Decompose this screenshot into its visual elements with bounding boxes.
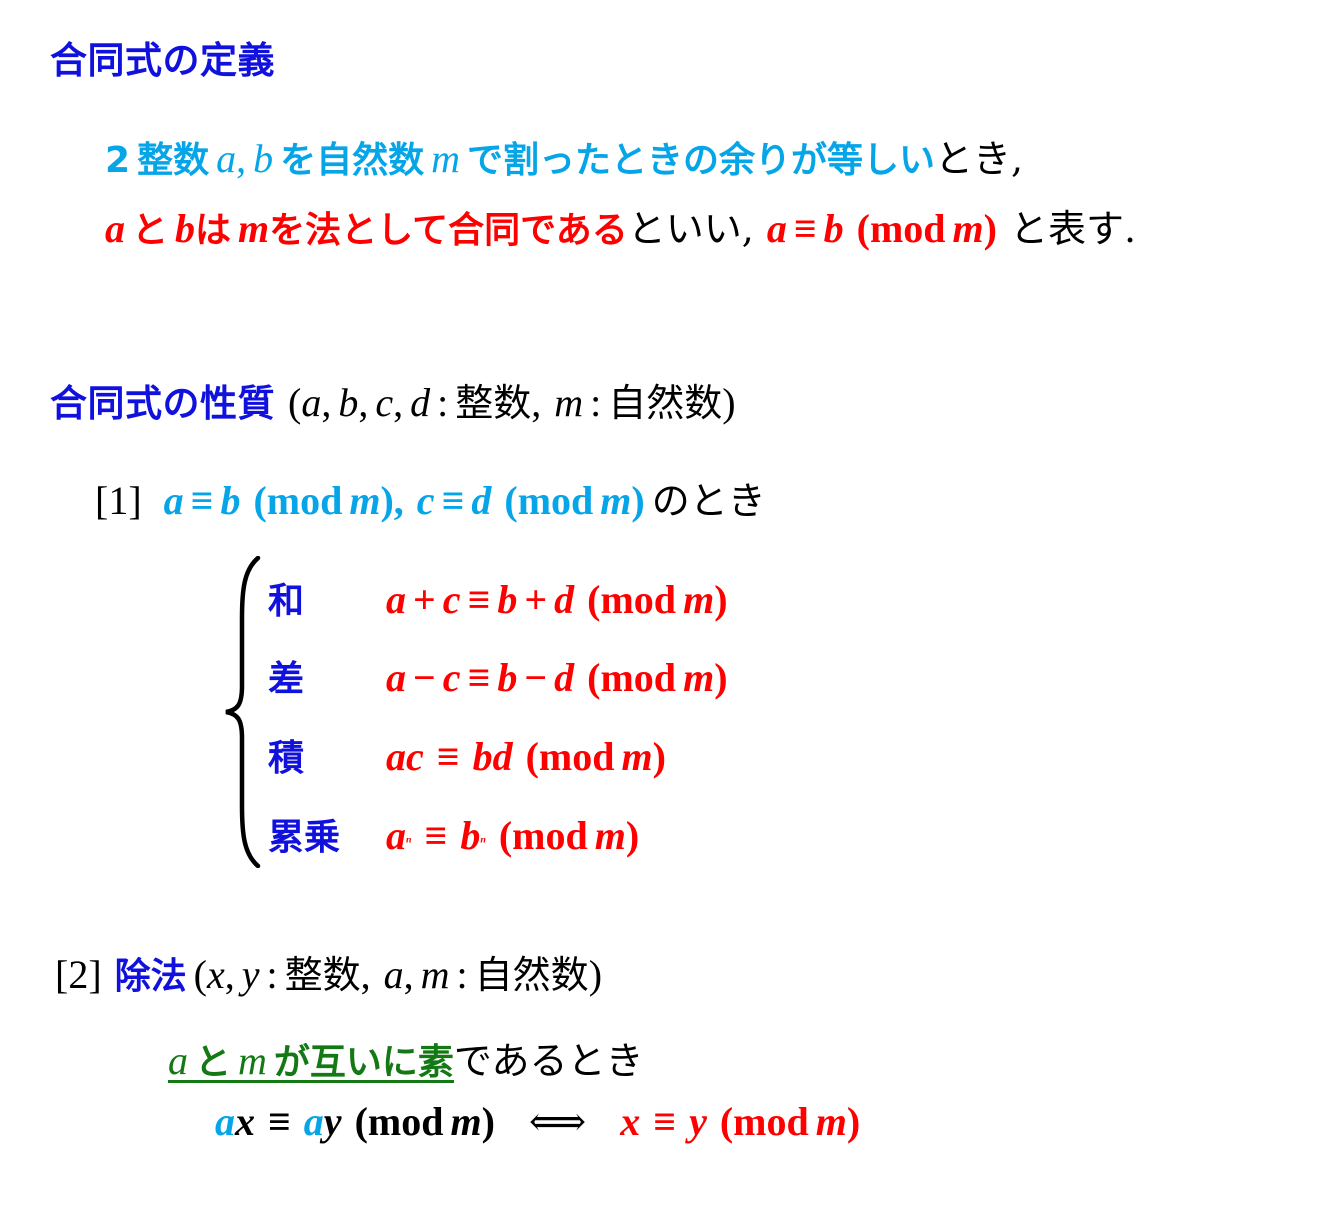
property-1-cond-m-1: m (349, 478, 380, 523)
equivalence-right-lparen: ( (720, 1099, 733, 1144)
equivalence-left-lparen: ( (355, 1099, 368, 1144)
property-1-cond-m-2: m (600, 478, 631, 523)
property-2-comma-1: , (225, 952, 235, 997)
definition-line-2-ha: は (195, 210, 231, 251)
property-row-product-mod: mod (539, 734, 615, 779)
property-row-power-exp-2: n (480, 835, 486, 846)
property-row-sum-plus-2: + (524, 577, 547, 622)
property-1-cond-suffix: のとき (652, 479, 766, 523)
properties-heading-m: m (554, 380, 583, 425)
properties-heading-c: c (375, 380, 393, 425)
property-2-a: a (384, 952, 404, 997)
definition-line-2-formula-a: a (767, 206, 787, 251)
equivalence-right-m: m (816, 1099, 847, 1144)
property-1-cond-lparen-2: ( (504, 478, 517, 523)
equivalence-left-y: y (324, 1099, 342, 1144)
property-row-power-mod: mod (512, 813, 588, 858)
properties-heading-seisu: 整数 (455, 381, 531, 425)
property-1-cond-b: b (220, 478, 240, 523)
properties-heading-lparen: ( (288, 380, 301, 425)
property-1-line: [1]a≡b(modm),c≡d(modm)のとき (95, 470, 766, 525)
property-row-product-d: d (493, 734, 513, 779)
property-2-lparen: ( (194, 952, 207, 997)
properties-heading-comma-2: , (358, 380, 368, 425)
properties-heading-comma-1: , (321, 380, 331, 425)
property-row-sum-a: a (386, 577, 406, 622)
definition-line-1-seisu: 整数 (137, 140, 209, 181)
equivalence-right-rparen: ) (847, 1099, 860, 1144)
property-row-difference-minus-2: − (524, 655, 547, 700)
property-row-difference-b: b (497, 655, 517, 700)
definition-line-2-to: と (132, 210, 168, 251)
property-1-cond-equiv-1: ≡ (191, 478, 214, 523)
property-row-power-equiv: ≡ (425, 813, 448, 858)
definition-line-2-formula-m: m (953, 206, 984, 251)
definition-line-1-number: 2 (105, 140, 130, 181)
property-row-power: 累乗an≡bn(modm) (268, 808, 639, 860)
property-row-product-b: b (473, 734, 493, 779)
properties-heading-comma-4: , (531, 380, 541, 425)
property-row-product: 積ac≡bd(modm) (268, 729, 666, 781)
coprime-condition-line: aとmが互いに素であるとき (168, 1030, 644, 1085)
property-row-sum-c: c (443, 577, 461, 622)
definition-line-2-formula-b: b (824, 206, 844, 251)
division-equivalence-line: ax≡ay(modm)⟺x≡y(modm) (215, 1098, 860, 1145)
equivalence-left-a-2: a (304, 1099, 324, 1144)
property-row-difference-equiv: ≡ (468, 655, 491, 700)
property-1-cond-c: c (417, 478, 435, 523)
definition-line-1-tail-black: とき, (935, 137, 1023, 181)
definition-heading: 合同式の定義 (50, 30, 275, 84)
property-row-sum: 和a+c≡b+d(modm) (268, 572, 728, 624)
properties-heading: 合同式の性質 (50, 382, 275, 425)
property-row-sum-b: b (497, 577, 517, 622)
property-row-sum-label: 和 (268, 572, 386, 624)
property-row-sum-m: m (683, 577, 714, 622)
equivalence-left-equiv: ≡ (268, 1099, 291, 1144)
equivalence-left-rparen: ) (482, 1099, 495, 1144)
definition-line-1-comma-1: , (236, 136, 246, 181)
definition-line-2-formula-mod: mod (870, 206, 946, 251)
property-2-seisu: 整数 (285, 953, 361, 997)
property-row-product-a: a (386, 734, 406, 779)
definition-line-2-to-ii: といい, (628, 207, 754, 251)
property-row-difference: 差a−c≡b−d(modm) (268, 650, 728, 702)
property-row-power-lparen: ( (499, 813, 512, 858)
property-row-power-exp-1: n (406, 835, 412, 846)
property-row-sum-d: d (554, 577, 574, 622)
equivalence-right-y: y (689, 1099, 707, 1144)
property-row-power-b: b (460, 813, 480, 858)
property-1-cond-rparen-1: ) (380, 478, 393, 523)
properties-heading-d: d (410, 380, 430, 425)
definition-line-1-tail-cyan: で割ったときの余りが等しい (467, 140, 935, 181)
property-2-x: x (207, 952, 225, 997)
coprime-a: a (168, 1038, 188, 1083)
definition-line-1-var-b: b (253, 136, 273, 181)
property-2-colon-1: : (267, 952, 278, 997)
definition-line-1-var-a: a (216, 136, 236, 181)
equivalence-right-equiv: ≡ (653, 1099, 676, 1144)
definition-line-1-var-m: m (431, 136, 460, 181)
property-2-comma-3: , (404, 952, 414, 997)
property-2-comma-2: , (361, 952, 371, 997)
definition-line-2-hou: を法として合同である (269, 210, 628, 251)
properties-heading-colon-1: : (437, 380, 448, 425)
property-row-difference-c: c (443, 655, 461, 700)
definition-line-2: aとbはmを法として合同であるといい,a≡b(modm)と表す. (105, 198, 1136, 253)
definition-line-2-var-a: a (105, 206, 125, 251)
property-row-difference-lparen: ( (587, 655, 600, 700)
definition-line-2-var-m: m (238, 206, 269, 251)
coprime-underlined-group: aとmが互いに素 (168, 1061, 454, 1083)
property-row-difference-rparen: ) (714, 655, 727, 700)
property-1-marker: [1] (95, 478, 142, 523)
property-row-sum-equiv: ≡ (468, 577, 491, 622)
property-2-line: [2]除法(x,y:整数,a,m:自然数) (55, 944, 602, 999)
property-row-power-label: 累乗 (268, 808, 386, 860)
property-2-label: 除法 (115, 956, 187, 997)
property-1-cond-equiv-2: ≡ (442, 478, 465, 523)
property-row-sum-lparen: ( (587, 577, 600, 622)
property-row-sum-mod: mod (600, 577, 676, 622)
properties-heading-b: b (338, 380, 358, 425)
definition-line-2-formula-equiv: ≡ (794, 206, 817, 251)
coprime-m: m (238, 1038, 267, 1083)
property-row-product-equiv: ≡ (437, 734, 460, 779)
property-row-difference-minus-1: − (413, 655, 436, 700)
coprime-to: と (195, 1042, 231, 1083)
equivalence-left-a-1: a (215, 1099, 235, 1144)
properties-heading-comma-3: , (393, 380, 403, 425)
properties-heading-a: a (301, 380, 321, 425)
property-row-product-m: m (621, 734, 652, 779)
left-curly-brace-icon (222, 556, 268, 868)
definition-line-1-shizensu: 自然数 (316, 140, 424, 181)
property-row-product-lparen: ( (526, 734, 539, 779)
property-row-sum-rparen: ) (714, 577, 727, 622)
coprime-phrase: が互いに素 (274, 1042, 454, 1083)
property-1-cond-mod-1: mod (267, 478, 343, 523)
properties-heading-shizensu: 自然数 (608, 381, 722, 425)
property-2-rparen: ) (589, 952, 602, 997)
equivalence-left-m: m (450, 1099, 481, 1144)
property-row-power-a: a (386, 813, 406, 858)
property-2-colon-2: : (457, 952, 468, 997)
equivalence-left-x: x (235, 1099, 255, 1144)
property-row-product-rparen: ) (653, 734, 666, 779)
definition-line-1: 2整数a,bを自然数mで割ったときの余りが等しいとき, (105, 128, 1023, 183)
coprime-tail: であるとき (454, 1039, 644, 1083)
property-2-y: y (242, 952, 260, 997)
property-1-cond-comma: , (394, 478, 404, 523)
property-2-shizensu: 自然数 (475, 953, 589, 997)
property-row-difference-m: m (683, 655, 714, 700)
equivalence-right-x: x (620, 1099, 640, 1144)
property-row-difference-label: 差 (268, 650, 386, 702)
property-row-power-rparen: ) (626, 813, 639, 858)
definition-line-2-formula-lparen: ( (857, 206, 870, 251)
property-row-power-m: m (595, 813, 626, 858)
definition-line-2-formula-rparen: ) (984, 206, 997, 251)
property-1-cond-a: a (164, 478, 184, 523)
definition-line-1-wo: を (280, 140, 316, 181)
property-row-difference-mod: mod (600, 655, 676, 700)
properties-heading-row: 合同式の性質(a,b,c,d:整数,m:自然数) (50, 372, 736, 427)
property-row-difference-d: d (554, 655, 574, 700)
iff-symbol-icon: ⟺ (529, 1099, 586, 1144)
property-2-marker: [2] (55, 952, 102, 997)
property-row-sum-plus-1: + (413, 577, 436, 622)
equivalence-left-mod: mod (368, 1099, 444, 1144)
property-1-cond-d: d (471, 478, 491, 523)
equivalence-right-mod: mod (733, 1099, 809, 1144)
property-1-cond-mod-2: mod (518, 478, 594, 523)
definition-line-2-tail: と表す. (1010, 207, 1136, 251)
properties-heading-colon-2: : (590, 380, 601, 425)
properties-heading-rparen: ) (722, 380, 735, 425)
property-1-cond-rparen-2: ) (631, 478, 644, 523)
property-row-difference-a: a (386, 655, 406, 700)
property-1-cond-lparen-1: ( (253, 478, 266, 523)
property-row-product-c: c (406, 734, 424, 779)
property-2-m: m (421, 952, 450, 997)
definition-line-2-var-b: b (175, 206, 195, 251)
property-row-product-label: 積 (268, 729, 386, 781)
